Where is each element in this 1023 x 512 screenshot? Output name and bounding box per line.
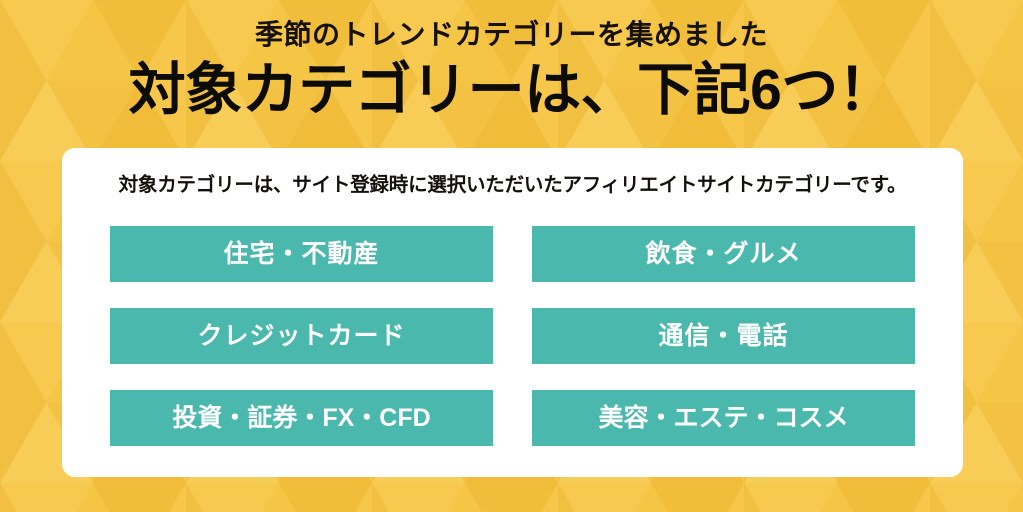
eyebrow-text: 季節のトレンドカテゴリーを集めました xyxy=(0,0,1023,51)
category-button-credit-card[interactable]: クレジットカード xyxy=(110,308,493,364)
promo-banner: 季節のトレンドカテゴリーを集めました 対象カテゴリーは、下記6つ！ 対象カテゴリ… xyxy=(0,0,1023,512)
category-button-beauty[interactable]: 美容・エステ・コスメ xyxy=(532,390,915,446)
category-card: 対象カテゴリーは、サイト登録時に選択いただいたアフィリエイトサイトカテゴリーです… xyxy=(62,148,963,477)
category-button-food[interactable]: 飲食・グルメ xyxy=(532,226,915,282)
category-grid: 住宅・不動産 飲食・グルメ クレジットカード 通信・電話 投資・証券・FX・CF… xyxy=(110,226,915,446)
headline-block: 季節のトレンドカテゴリーを集めました 対象カテゴリーは、下記6つ！ xyxy=(0,0,1023,123)
category-button-housing[interactable]: 住宅・不動産 xyxy=(110,226,493,282)
page-title: 対象カテゴリーは、下記6つ！ xyxy=(0,51,1023,123)
category-button-telecom[interactable]: 通信・電話 xyxy=(532,308,915,364)
category-button-investment[interactable]: 投資・証券・FX・CFD xyxy=(110,390,493,446)
card-lead-text: 対象カテゴリーは、サイト登録時に選択いただいたアフィリエイトサイトカテゴリーです… xyxy=(62,148,963,197)
